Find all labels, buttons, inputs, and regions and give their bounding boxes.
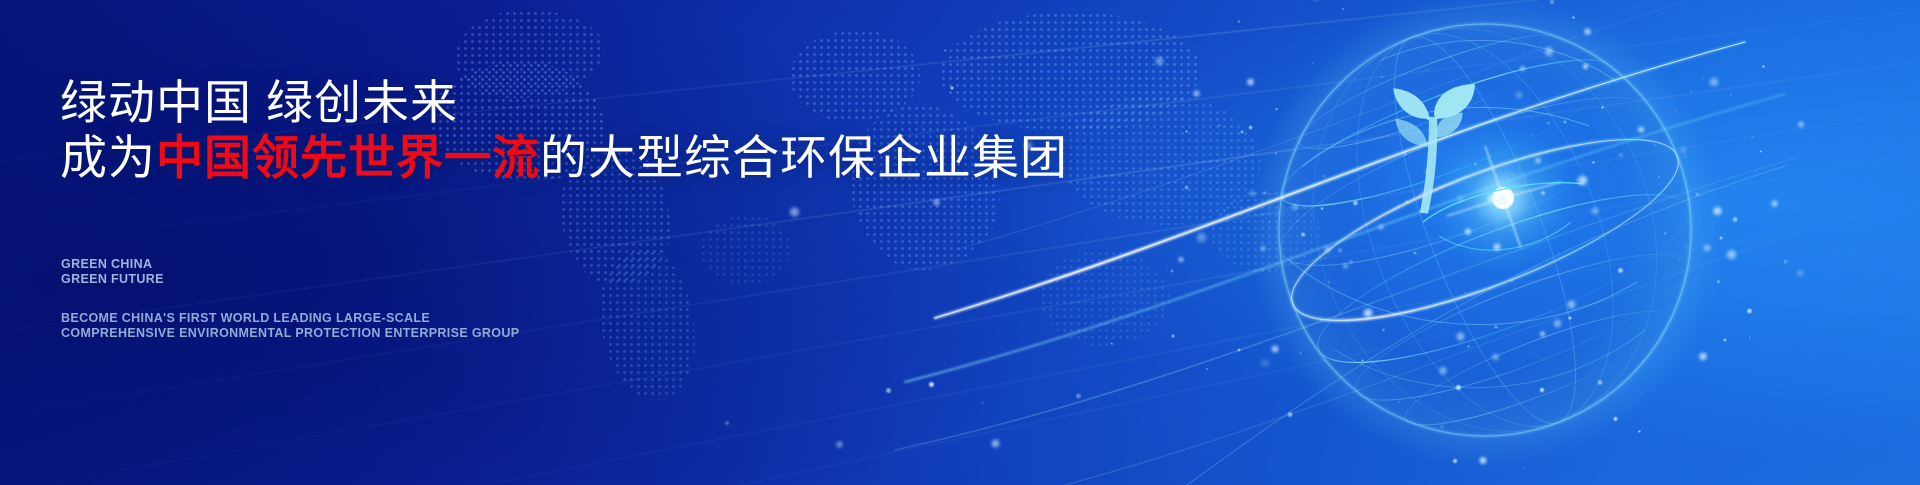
- particle-dot: [1539, 330, 1547, 338]
- subtitle-line-2: COMPREHENSIVE ENVIRONMENTAL PROTECTION E…: [61, 326, 519, 341]
- particle-dot: [1663, 232, 1666, 235]
- particle-dot: [1796, 268, 1805, 277]
- particle-dot: [1324, 258, 1326, 260]
- particle-dot: [1760, 150, 1763, 153]
- particle-dot: [1695, 192, 1699, 196]
- tagline-block: GREEN CHINA GREEN FUTURE: [61, 257, 164, 287]
- particle-dot: [1415, 443, 1417, 445]
- particle-dot: [1732, 216, 1738, 222]
- particle-dot: [1287, 411, 1294, 418]
- particle-dot: [1455, 194, 1466, 205]
- particle-dot: [1459, 338, 1460, 339]
- particle-dot: [1439, 424, 1444, 429]
- particle-dot: [1239, 226, 1242, 229]
- particle-dot: [1612, 438, 1613, 439]
- particle-dot: [1405, 200, 1410, 205]
- particle-dot: [1380, 318, 1381, 319]
- tagline-line-1: GREEN CHINA: [61, 257, 164, 272]
- particle-dot: [1455, 331, 1466, 342]
- particle-dot: [1702, 243, 1712, 253]
- particle-dot: [1218, 124, 1221, 127]
- particle-dot: [1474, 163, 1477, 166]
- particle-dot: [1628, 417, 1629, 418]
- particle-dot: [1206, 368, 1208, 370]
- particle-dot: [1184, 185, 1189, 190]
- particle-dot: [1381, 76, 1383, 78]
- particle-dot: [1404, 152, 1408, 156]
- particle-dot: [1246, 374, 1247, 375]
- particle-dot: [1511, 280, 1513, 282]
- particle-dot: [1192, 89, 1201, 98]
- particle-dot: [1685, 245, 1687, 247]
- particle-dot: [1519, 65, 1526, 72]
- globe-rim: [1279, 24, 1691, 436]
- particle-dot: [1543, 46, 1554, 57]
- particle-dot: [1563, 120, 1567, 124]
- particle-dot: [1637, 125, 1645, 133]
- particle-dot: [1249, 190, 1256, 197]
- particle-dot: [1342, 262, 1349, 269]
- particle-dot: [1300, 232, 1306, 238]
- particle-dot: [1178, 179, 1179, 180]
- particle-dot: [1690, 90, 1692, 92]
- globe-light-burst: [1423, 124, 1583, 272]
- particle-dot: [1248, 125, 1253, 130]
- particle-dot: [1733, 187, 1735, 189]
- particle-dot: [1438, 365, 1448, 375]
- particle-dot: [1540, 190, 1546, 196]
- particle-dot: [1406, 269, 1407, 270]
- particle-dot: [1460, 186, 1461, 187]
- particle-dot: [1532, 117, 1533, 118]
- particle-dot: [1753, 71, 1754, 72]
- headline-accent: 中国领先世界一流: [156, 131, 540, 184]
- particle-dot: [1592, 161, 1595, 164]
- particle-dot: [1154, 55, 1166, 67]
- particle-dot: [1310, 0, 1322, 1]
- headline-line-2: 成为中国领先世界一流的大型综合环保企业集团: [60, 130, 1068, 186]
- particle-dot: [1582, 63, 1589, 70]
- particle-dot: [1683, 105, 1684, 106]
- particle-dot: [1259, 357, 1271, 369]
- particle-dot: [1413, 251, 1417, 255]
- particle-dot: [1185, 130, 1188, 133]
- particle-dot: [1514, 90, 1524, 100]
- particle-dot: [1638, 430, 1641, 433]
- particle-dot: [1363, 243, 1364, 244]
- hero-banner: 绿动中国 绿创未来 成为中国领先世界一流的大型综合环保企业集团 GREEN CH…: [0, 0, 1920, 485]
- wireframe-globe: [1185, 0, 1805, 485]
- particle-dot: [1246, 77, 1255, 86]
- particle-dot: [1552, 318, 1563, 329]
- particle-dot: [1240, 130, 1244, 134]
- particle-dot: [1749, 336, 1751, 338]
- particle-dot: [1274, 152, 1278, 156]
- particle-dot: [1701, 77, 1704, 80]
- particle-dot: [1144, 324, 1145, 325]
- particle-dot: [1679, 146, 1687, 154]
- particle-dot: [1496, 174, 1498, 176]
- particle-dot: [1331, 247, 1332, 248]
- particle-dot: [1563, 318, 1564, 319]
- particle-dot: [1487, 246, 1489, 248]
- particle-dot: [1676, 18, 1677, 19]
- particle-dot: [1270, 344, 1280, 354]
- map-continent: [1210, 190, 1320, 272]
- particle-dot: [1167, 266, 1168, 267]
- particle-dot: [1577, 179, 1578, 180]
- particle-dot: [1730, 94, 1732, 96]
- particle-dot: [1388, 120, 1389, 121]
- particle-dot: [1486, 193, 1496, 203]
- particle-dot: [1455, 384, 1462, 391]
- particle-dot: [1632, 61, 1633, 62]
- particle-dot: [1808, 180, 1809, 181]
- particle-dot: [1492, 242, 1502, 252]
- particle-dot: [1644, 44, 1645, 45]
- particle-dot: [1269, 221, 1270, 222]
- particle-dot: [1437, 29, 1438, 30]
- particle-dot: [1558, 253, 1559, 254]
- particle-dot: [1674, 110, 1675, 111]
- particle-dot: [1244, 59, 1245, 60]
- particle-dot: [1299, 352, 1303, 356]
- particle-dot: [1359, 175, 1360, 176]
- particle-dot: [1684, 155, 1687, 158]
- particle-dot: [1467, 345, 1470, 348]
- particle-dot: [1323, 245, 1332, 254]
- particle-dot: [1566, 299, 1577, 310]
- globe-longitudes: [1256, 0, 1714, 482]
- particle-dot: [1597, 379, 1603, 385]
- particle-dot: [1658, 176, 1660, 178]
- particle-dot: [1751, 136, 1753, 138]
- particle-dot: [1322, 174, 1326, 178]
- particle-dot: [1424, 168, 1431, 175]
- particle-dot: [1361, 359, 1364, 362]
- particle-dot: [1177, 256, 1184, 263]
- particle-dot: [1539, 387, 1545, 393]
- particle-dot: [1725, 248, 1738, 261]
- particle-dot: [1613, 416, 1619, 422]
- particle-dot: [1291, 203, 1299, 211]
- particle-dot: [1318, 316, 1319, 317]
- globe-body: [1279, 24, 1691, 436]
- globe-latitudes: [1230, 0, 1740, 467]
- particle-dot: [1642, 428, 1643, 429]
- particle-dot: [1263, 191, 1267, 195]
- globe-swirls: [1289, 40, 1645, 387]
- particle-dot: [1679, 259, 1680, 260]
- particle-dot: [1263, 28, 1264, 29]
- headline-suffix: 的大型综合环保企业集团: [540, 131, 1068, 184]
- particle-dot: [1625, 241, 1627, 243]
- particle-dot: [1311, 216, 1312, 217]
- particle-dot: [1426, 69, 1429, 72]
- particle-dot: [1377, 223, 1385, 231]
- particle-dot: [1452, 458, 1458, 464]
- particle-dot: [1770, 199, 1779, 208]
- particle-dot: [1716, 279, 1721, 284]
- particle-dot: [1786, 206, 1787, 207]
- particle-dot: [1495, 195, 1506, 206]
- particle-dot: [1746, 308, 1753, 315]
- particle-dot: [1617, 267, 1624, 274]
- particle-dot: [1362, 307, 1374, 319]
- particle-dot: [1680, 87, 1681, 88]
- particle-dot: [1171, 334, 1175, 338]
- particle-dot: [1403, 180, 1404, 181]
- particle-dot: [1576, 174, 1589, 187]
- particle-dot: [1601, 106, 1604, 109]
- particle-dot: [1464, 227, 1473, 236]
- globe-halo: [1247, 0, 1723, 468]
- particle-dot: [1797, 120, 1806, 129]
- particle-dot: [1492, 118, 1494, 120]
- particle-dot: [1762, 65, 1765, 68]
- particle-dot: [1337, 247, 1343, 253]
- particle-dot: [1507, 207, 1509, 209]
- particle-dot: [1618, 152, 1624, 158]
- particle-dot: [1525, 83, 1526, 84]
- particle-dot: [1783, 259, 1789, 265]
- particle-dot: [1414, 105, 1415, 106]
- particle-dot: [1328, 281, 1330, 283]
- particle-dot: [1494, 325, 1498, 329]
- particle-dot: [1478, 456, 1487, 465]
- particle-dot: [1353, 392, 1355, 394]
- particle-dot: [1567, 258, 1568, 259]
- headline-line-1: 绿动中国 绿创未来: [60, 75, 458, 131]
- particle-dot: [1465, 292, 1466, 293]
- particle-dot: [1320, 207, 1323, 210]
- particle-dot: [1572, 16, 1575, 19]
- particle-dot: [1534, 156, 1543, 165]
- particle-dot: [1275, 108, 1278, 111]
- particle-dot: [1523, 468, 1525, 470]
- particle-dot: [1547, 121, 1551, 125]
- particle-dot: [1640, 392, 1641, 393]
- particle-dot: [1719, 236, 1723, 240]
- particle-dot: [1237, 20, 1241, 24]
- particle-dot: [1259, 245, 1266, 252]
- particle-dot: [1590, 206, 1600, 216]
- particle-dot: [1348, 259, 1354, 265]
- particle-dot: [1170, 269, 1174, 273]
- particle-dot: [1199, 281, 1200, 282]
- particle-dot: [1342, 8, 1344, 10]
- particle-dot: [1382, 328, 1385, 331]
- headline-prefix: 成为: [60, 131, 156, 184]
- particle-dot: [1712, 205, 1723, 216]
- particle-dot: [1708, 76, 1720, 88]
- particle-dot: [1398, 401, 1400, 403]
- particle-dot: [1311, 62, 1314, 65]
- particle-dot: [1549, 0, 1556, 5]
- particle-dot: [1195, 231, 1207, 243]
- particle-dot: [1491, 352, 1500, 361]
- particle-dot: [1532, 134, 1534, 136]
- sprout-icon: [1393, 84, 1475, 214]
- particle-dot: [1568, 316, 1572, 320]
- particle-dot: [1655, 373, 1656, 374]
- tagline-line-2: GREEN FUTURE: [61, 272, 164, 287]
- particle-dot: [1653, 144, 1656, 147]
- particle-dot: [1483, 289, 1484, 290]
- particle-dot: [1341, 428, 1342, 429]
- subtitle-block: BECOME CHINA'S FIRST WORLD LEADING LARGE…: [61, 311, 519, 341]
- particle-dot: [1745, 130, 1746, 131]
- particle-dot: [1444, 131, 1445, 132]
- particle-dot: [1723, 338, 1727, 342]
- particle-dot: [1583, 27, 1592, 36]
- particle-dot: [1663, 13, 1664, 14]
- banner-copy: 绿动中国 绿创未来 成为中国领先世界一流的大型综合环保企业集团 GREEN CH…: [60, 0, 1120, 485]
- particle-dot: [1418, 189, 1430, 201]
- particle-dot: [1352, 200, 1358, 206]
- particle-dot: [1297, 220, 1299, 222]
- particle-dot: [1642, 360, 1643, 361]
- particle-dot: [1237, 348, 1241, 352]
- subtitle-line-1: BECOME CHINA'S FIRST WORLD LEADING LARGE…: [61, 311, 519, 326]
- particle-dot: [1698, 351, 1708, 361]
